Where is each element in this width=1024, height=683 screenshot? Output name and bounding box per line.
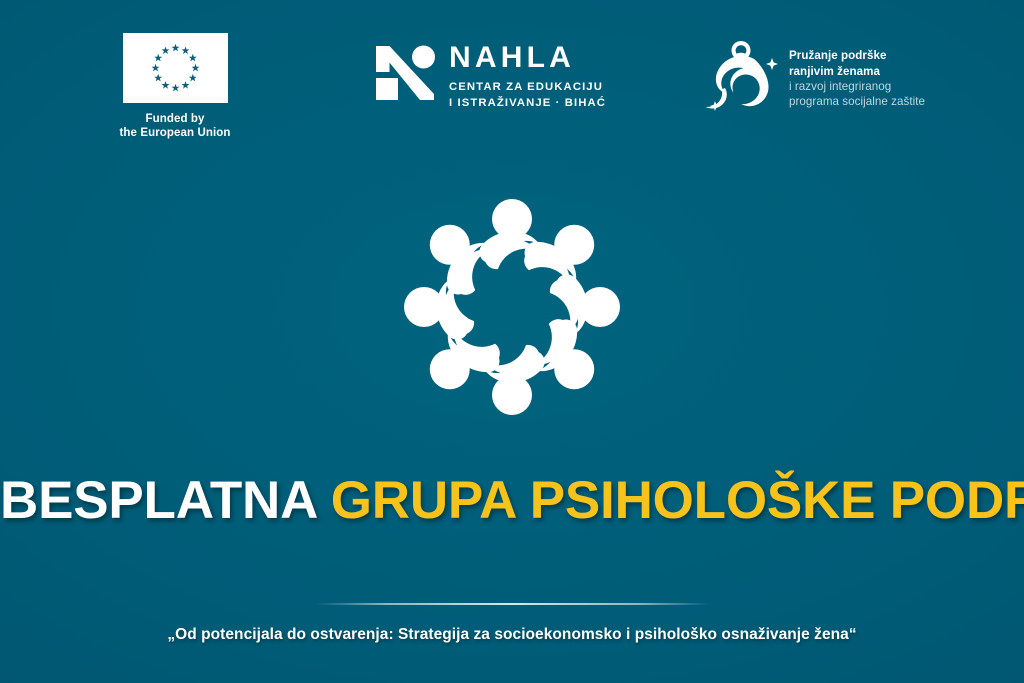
project-line-1: Pružanje podrške bbox=[789, 48, 925, 63]
logo-bar: Funded by the European Union NAHLA bbox=[0, 0, 1024, 160]
project-logo: Pružanje podrške ranjivim ženama i razvo… bbox=[703, 38, 925, 120]
subtitle: „Od potencijala do ostvarenja: Strategij… bbox=[0, 626, 1024, 644]
nahla-monogram-icon bbox=[374, 42, 436, 104]
eu-funding-caption: Funded by the European Union bbox=[105, 112, 245, 141]
eu-caption-line-2: the European Union bbox=[105, 126, 245, 140]
people-circle-group-icon bbox=[387, 182, 637, 432]
woman-swirl-icon bbox=[703, 38, 781, 120]
section-divider bbox=[315, 603, 710, 605]
nahla-logo: NAHLA CENTAR ZA EDUKACIJU I ISTRAŽIVANJE… bbox=[374, 42, 606, 111]
eu-flag-icon bbox=[123, 33, 228, 103]
headline-white-part: BESPLATNA bbox=[0, 471, 316, 530]
nahla-name: NAHLA bbox=[449, 43, 606, 73]
headline-gold-part: GRUPA PSIHOLOŠKE PODRŠKE bbox=[331, 471, 1024, 530]
eu-caption-line-1: Funded by bbox=[105, 112, 245, 126]
project-line-4: programa socijalne zaštite bbox=[789, 94, 925, 109]
nahla-wordmark: NAHLA CENTAR ZA EDUKACIJU I ISTRAŽIVANJE… bbox=[449, 42, 606, 111]
nahla-subtitle-line-2: I ISTRAŽIVANJE · BIHAĆ bbox=[449, 96, 606, 112]
eu-funding-logo: Funded by the European Union bbox=[105, 33, 245, 141]
project-wordmark: Pružanje podrške ranjivim ženama i razvo… bbox=[789, 48, 925, 109]
nahla-subtitle: CENTAR ZA EDUKACIJU I ISTRAŽIVANJE · BIH… bbox=[449, 80, 606, 111]
project-line-3: i razvoj integriranog bbox=[789, 79, 925, 94]
project-line-2: ranjivim ženama bbox=[789, 64, 925, 79]
headline: BESPLATNA GRUPA PSIHOLOŠKE PODRŠKE bbox=[0, 473, 1024, 529]
poster-canvas: Funded by the European Union NAHLA bbox=[0, 0, 1024, 683]
nahla-subtitle-line-1: CENTAR ZA EDUKACIJU bbox=[449, 80, 606, 96]
